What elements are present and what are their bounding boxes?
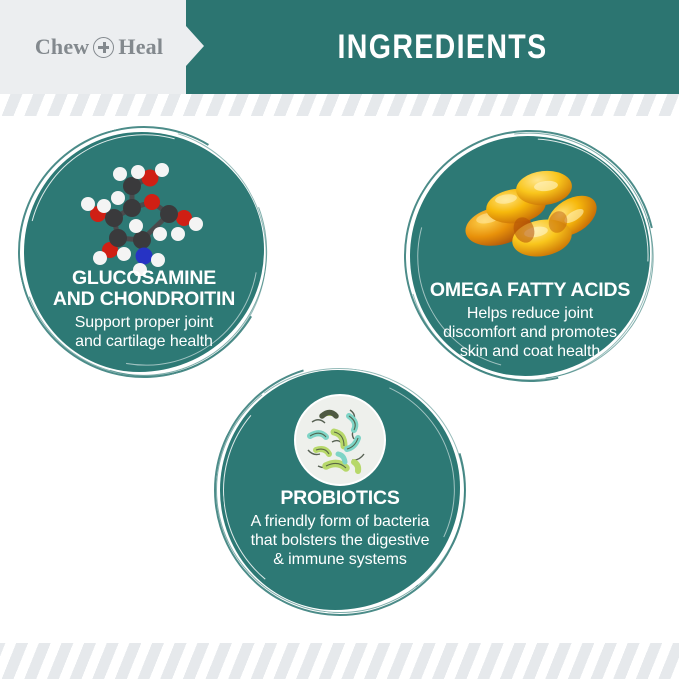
description-line: Helps reduce joint: [404, 304, 656, 323]
title-line: OMEGA FATTY ACIDS: [404, 280, 656, 301]
plus-in-circle-icon: [93, 37, 114, 58]
molecule-icon: [74, 156, 214, 276]
ingredient-description: Support proper joint and cartilage healt…: [18, 313, 270, 351]
brand-logo: Chew Heal: [18, 28, 180, 66]
ingredient-title: GLUCOSAMINE AND CHONDROITIN: [18, 268, 270, 310]
ingredient-title: PROBIOTICS: [214, 488, 466, 509]
title-line: GLUCOSAMINE: [18, 268, 270, 289]
brand-logo-word-left: Chew: [35, 34, 90, 60]
header-bar: Chew Heal INGREDIENTS: [0, 0, 679, 94]
description-line: Support proper joint: [18, 313, 270, 332]
stripe-band-top: [0, 94, 679, 116]
ingredient-card-probiotics[interactable]: PROBIOTICS A friendly form of bacteria t…: [214, 364, 466, 616]
title-line: AND CHONDROITIN: [18, 289, 270, 310]
ingredient-text-omega: OMEGA FATTY ACIDS Helps reduce joint dis…: [404, 280, 656, 361]
ingredient-text-probiotics: PROBIOTICS A friendly form of bacteria t…: [214, 488, 466, 569]
description-line: and cartilage health: [18, 332, 270, 351]
description-line: & immune systems: [214, 550, 466, 569]
ingredients-infographic: Chew Heal INGREDIENTS: [0, 0, 679, 679]
title-line: PROBIOTICS: [214, 488, 466, 509]
ingredient-description: A friendly form of bacteria that bolster…: [214, 512, 466, 569]
brand-logo-word-right: Heal: [118, 34, 163, 60]
page-title: INGREDIENTS: [244, 0, 641, 94]
ingredient-text-glucosamine: GLUCOSAMINE AND CHONDROITIN Support prop…: [18, 268, 270, 351]
description-line: skin and coat health: [404, 342, 656, 361]
description-line: discomfort and promotes: [404, 323, 656, 342]
description-line: that bolsters the digestive: [214, 531, 466, 550]
ingredient-card-glucosamine[interactable]: GLUCOSAMINE AND CHONDROITIN Support prop…: [18, 126, 270, 378]
softgel-capsules-icon: [460, 164, 602, 276]
description-line: A friendly form of bacteria: [214, 512, 466, 531]
bacteria-icon: [292, 392, 388, 488]
ingredient-card-omega[interactable]: OMEGA FATTY ACIDS Helps reduce joint dis…: [404, 130, 656, 382]
stripe-band-bottom: [0, 643, 679, 679]
ingredient-title: OMEGA FATTY ACIDS: [404, 280, 656, 301]
ingredient-description: Helps reduce joint discomfort and promot…: [404, 304, 656, 361]
